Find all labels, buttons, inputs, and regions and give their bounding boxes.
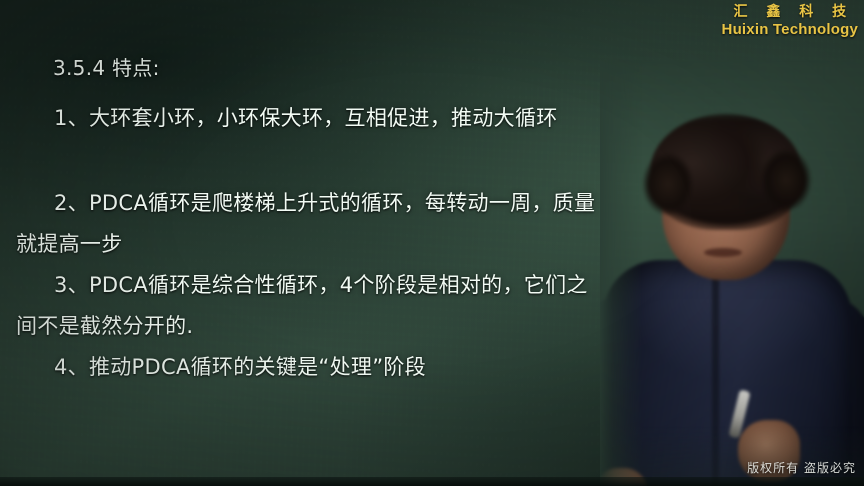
slide-heading: 3.5.4 特点:	[53, 55, 160, 81]
slide-item-4: 4、推动PDCA循环的关键是“处理”阶段	[16, 347, 606, 388]
copyright-watermark: 版权所有 盗版必究	[747, 459, 856, 476]
slide-item-3: 3、PDCA循环是综合性循环，4个阶段是相对的，它们之间不是截然分开的.	[16, 265, 606, 347]
channel-logo: 汇 鑫 科 技 Huixin Technology	[722, 4, 858, 39]
slide-item-2: 2、PDCA循环是爬楼梯上升式的循环，每转动一周，质量就提高一步	[16, 183, 606, 265]
video-frame: 3.5.4 特点: 1、大环套小环，小环保大环，互相促进，推动大循环 2、PDC…	[0, 0, 864, 486]
slide-item-1: 1、大环套小环，小环保大环，互相促进，推动大循环	[16, 98, 606, 139]
logo-chinese-text: 汇 鑫 科 技	[722, 4, 858, 21]
logo-english-text: Huixin Technology	[722, 21, 858, 39]
